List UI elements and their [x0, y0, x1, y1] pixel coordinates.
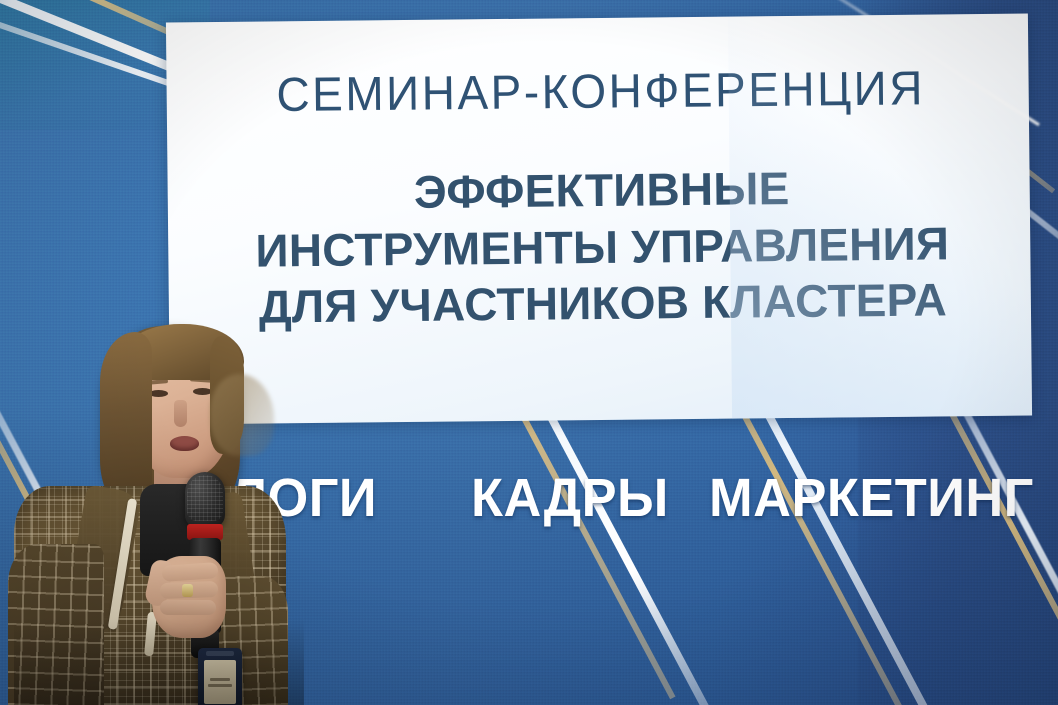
slide-headline-line-3: ДЛЯ УЧАСТНИКОВ КЛАСТЕРА: [256, 271, 950, 335]
slide-kicker: СЕМИНАР-КОНФЕРЕНЦИЯ: [276, 60, 925, 123]
slide-content: СЕМИНАР-КОНФЕРЕНЦИЯ ЭФФЕКТИВНЫЕ ИНСТРУМЕ…: [166, 13, 1032, 424]
slide-headline-line-2: ИНСТРУМЕНТЫ УПРАВЛЕНИЯ: [255, 215, 949, 279]
conference-photo: СЕМИНАР-КОНФЕРЕНЦИЯ ЭФФЕКТИВНЫЕ ИНСТРУМЕ…: [0, 0, 1058, 705]
slide-headline: ЭФФЕКТИВНЫЕ ИНСТРУМЕНТЫ УПРАВЛЕНИЯ ДЛЯ У…: [255, 158, 950, 335]
projection-slide: СЕМИНАР-КОНФЕРЕНЦИЯ ЭФФЕКТИВНЫЕ ИНСТРУМЕ…: [166, 13, 1032, 424]
slide-headline-line-1: ЭФФЕКТИВНЫЕ: [255, 158, 949, 222]
